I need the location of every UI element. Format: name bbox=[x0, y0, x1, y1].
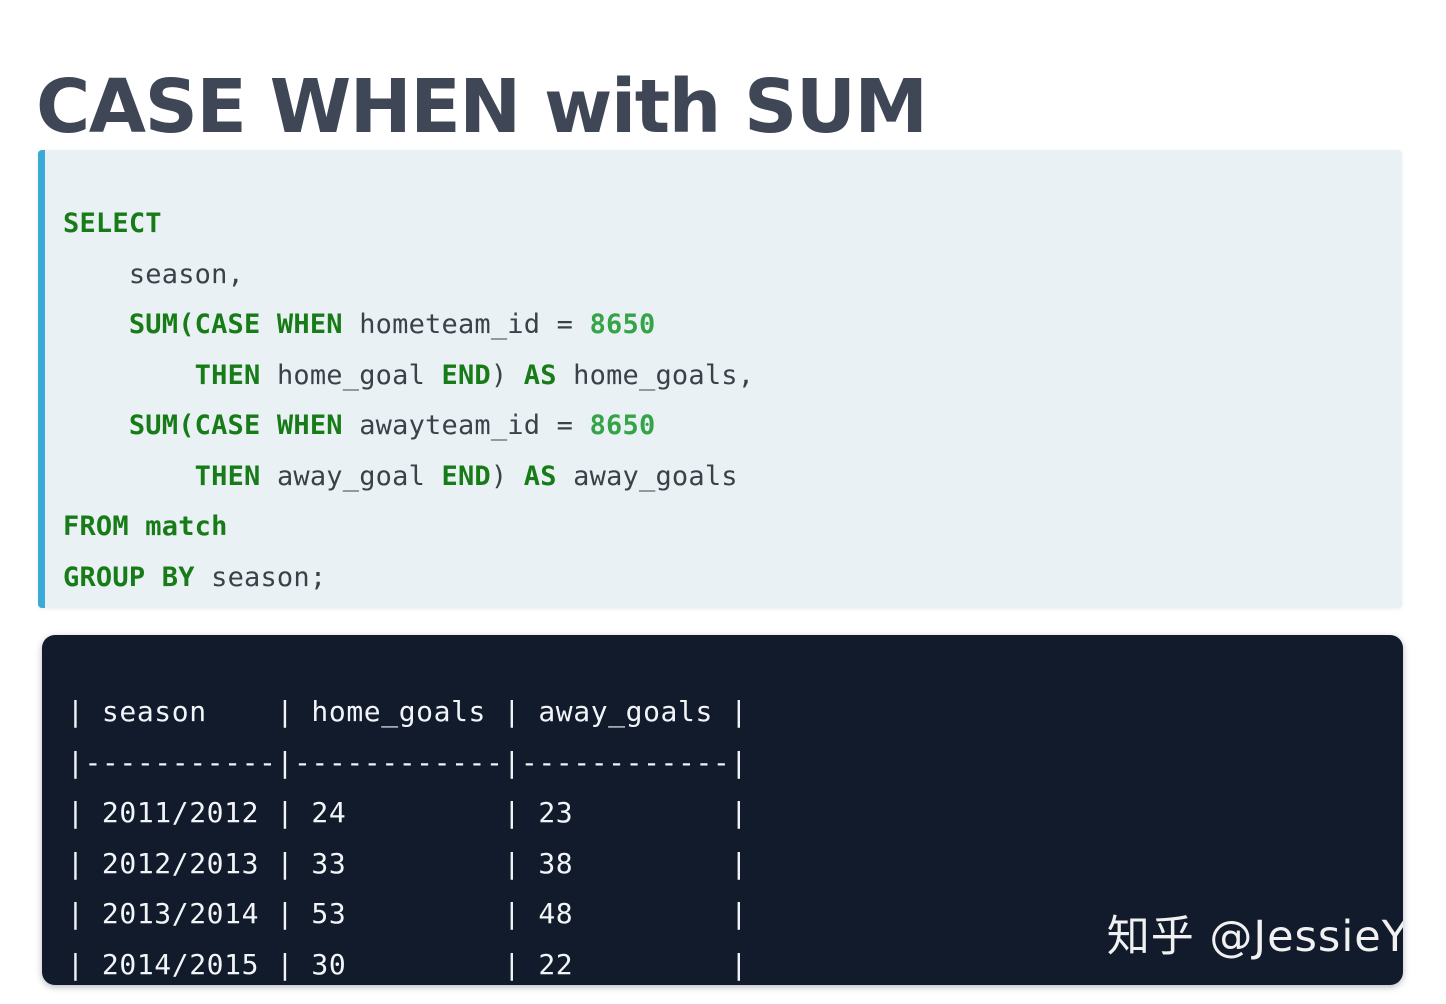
query-output-block: | season | home_goals | away_goals | |--… bbox=[42, 635, 1403, 985]
sql-token: season; bbox=[195, 562, 327, 593]
sql-token: FROM match bbox=[63, 511, 228, 542]
sql-token: away_goal bbox=[260, 461, 441, 492]
sql-token: 8650 bbox=[590, 410, 656, 441]
sql-token bbox=[63, 410, 129, 441]
sql-token: home_goals, bbox=[557, 360, 754, 391]
sql-token: THEN bbox=[195, 461, 261, 492]
sql-code-text: SELECT season, SUM(CASE WHEN hometeam_id… bbox=[63, 199, 754, 603]
sql-token: SELECT bbox=[63, 208, 162, 239]
sql-token: SUM(CASE WHEN bbox=[129, 309, 343, 340]
sql-token: awayteam_id = bbox=[343, 410, 590, 441]
query-output-text: | season | home_goals | away_goals | |--… bbox=[67, 687, 748, 985]
sql-token bbox=[63, 461, 195, 492]
sql-code-block: SELECT season, SUM(CASE WHEN hometeam_id… bbox=[38, 150, 1402, 608]
sql-token: GROUP BY bbox=[63, 562, 195, 593]
sql-token: 8650 bbox=[590, 309, 656, 340]
sql-token: ) bbox=[491, 360, 524, 391]
sql-token bbox=[63, 360, 195, 391]
sql-token: END bbox=[442, 461, 491, 492]
sql-token: hometeam_id = bbox=[343, 309, 590, 340]
sql-token bbox=[63, 309, 129, 340]
sql-code-content: SELECT season, SUM(CASE WHEN hometeam_id… bbox=[63, 208, 754, 593]
watermark-label: 知乎 @JessieY bbox=[1107, 911, 1403, 963]
page-title: CASE WHEN with SUM bbox=[36, 60, 927, 154]
sql-token: home_goal bbox=[260, 360, 441, 391]
sql-token: season, bbox=[63, 259, 244, 290]
slide-canvas: CASE WHEN with SUM SELECT season, SUM(CA… bbox=[0, 0, 1446, 1004]
sql-token: SUM(CASE WHEN bbox=[129, 410, 343, 441]
sql-token: away_goals bbox=[557, 461, 738, 492]
sql-token: ) bbox=[491, 461, 524, 492]
sql-token: AS bbox=[524, 461, 557, 492]
sql-token: THEN bbox=[195, 360, 261, 391]
code-accent-bar bbox=[38, 150, 45, 608]
sql-token: END bbox=[442, 360, 491, 391]
sql-token: AS bbox=[524, 360, 557, 391]
